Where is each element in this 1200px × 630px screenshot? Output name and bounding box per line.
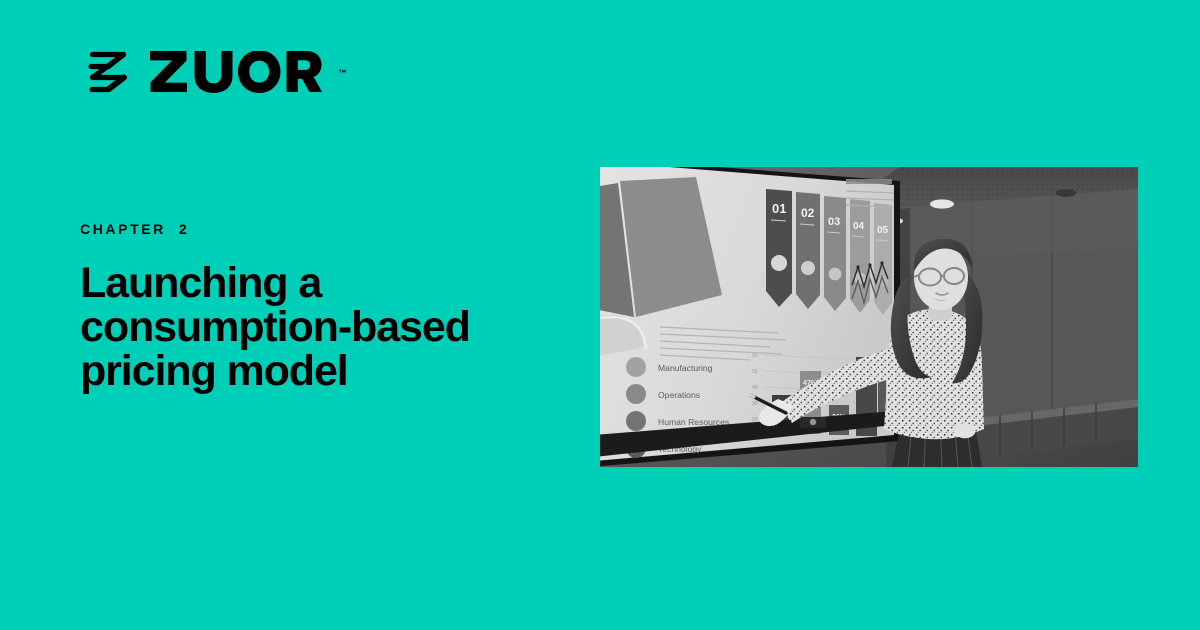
- zuora-logo[interactable]: ™: [80, 44, 347, 100]
- trademark-icon: ™: [338, 69, 347, 78]
- chapter-cover-slide: ™ CHAPTER 2 Launching a consumption-base…: [0, 0, 1200, 630]
- chapter-photo: 01 02 03 04 05: [600, 167, 1138, 467]
- page-title: Launching a consumption-based pricing mo…: [80, 262, 600, 394]
- chapter-text-block: CHAPTER 2 Launching a consumption-based …: [80, 222, 600, 394]
- chapter-eyebrow: CHAPTER 2: [80, 222, 600, 236]
- zuora-wordmark: [150, 51, 322, 93]
- zuora-z-mark-icon: [80, 44, 136, 100]
